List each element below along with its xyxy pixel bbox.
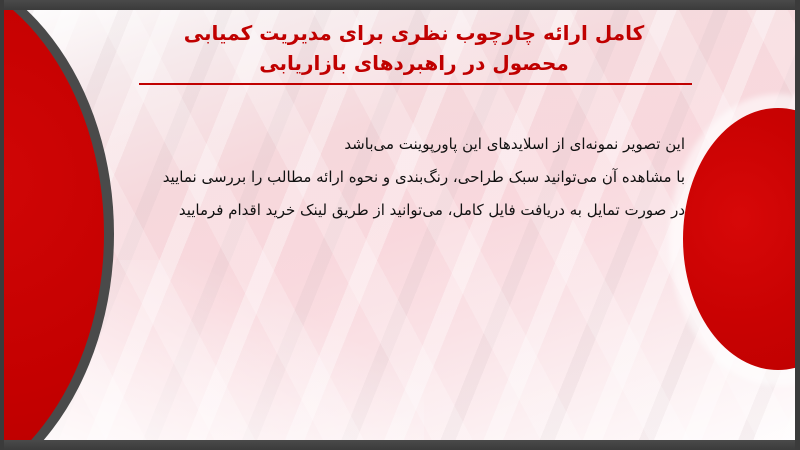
slide-title-line-2: محصول در راهبردهای بازاریابی [64, 48, 764, 78]
presentation-slide: کامل ارائه چارچوب نظری برای مدیریت کمیاب… [0, 0, 800, 450]
body-line-2: با مشاهده آن می‌توانید سبک طراحی، رنگ‌بن… [125, 161, 685, 194]
slide-frame-right [795, 0, 800, 450]
slide-frame-bottom [0, 440, 800, 450]
slide-title: کامل ارائه چارچوب نظری برای مدیریت کمیاب… [64, 18, 764, 78]
slide-frame-top [0, 0, 800, 10]
body-line-1: این تصویر نمونه‌ای از اسلایدهای این پاور… [125, 128, 685, 161]
title-underline-rule [139, 83, 692, 85]
slide-content-panel: کامل ارائه چارچوب نظری برای مدیریت کمیاب… [4, 10, 795, 440]
slide-title-line-1: کامل ارائه چارچوب نظری برای مدیریت کمیاب… [64, 18, 764, 48]
body-line-3: در صورت تمایل به دریافت فایل کامل، می‌تو… [125, 194, 685, 227]
slide-body-text: این تصویر نمونه‌ای از اسلایدهای این پاور… [125, 128, 685, 227]
